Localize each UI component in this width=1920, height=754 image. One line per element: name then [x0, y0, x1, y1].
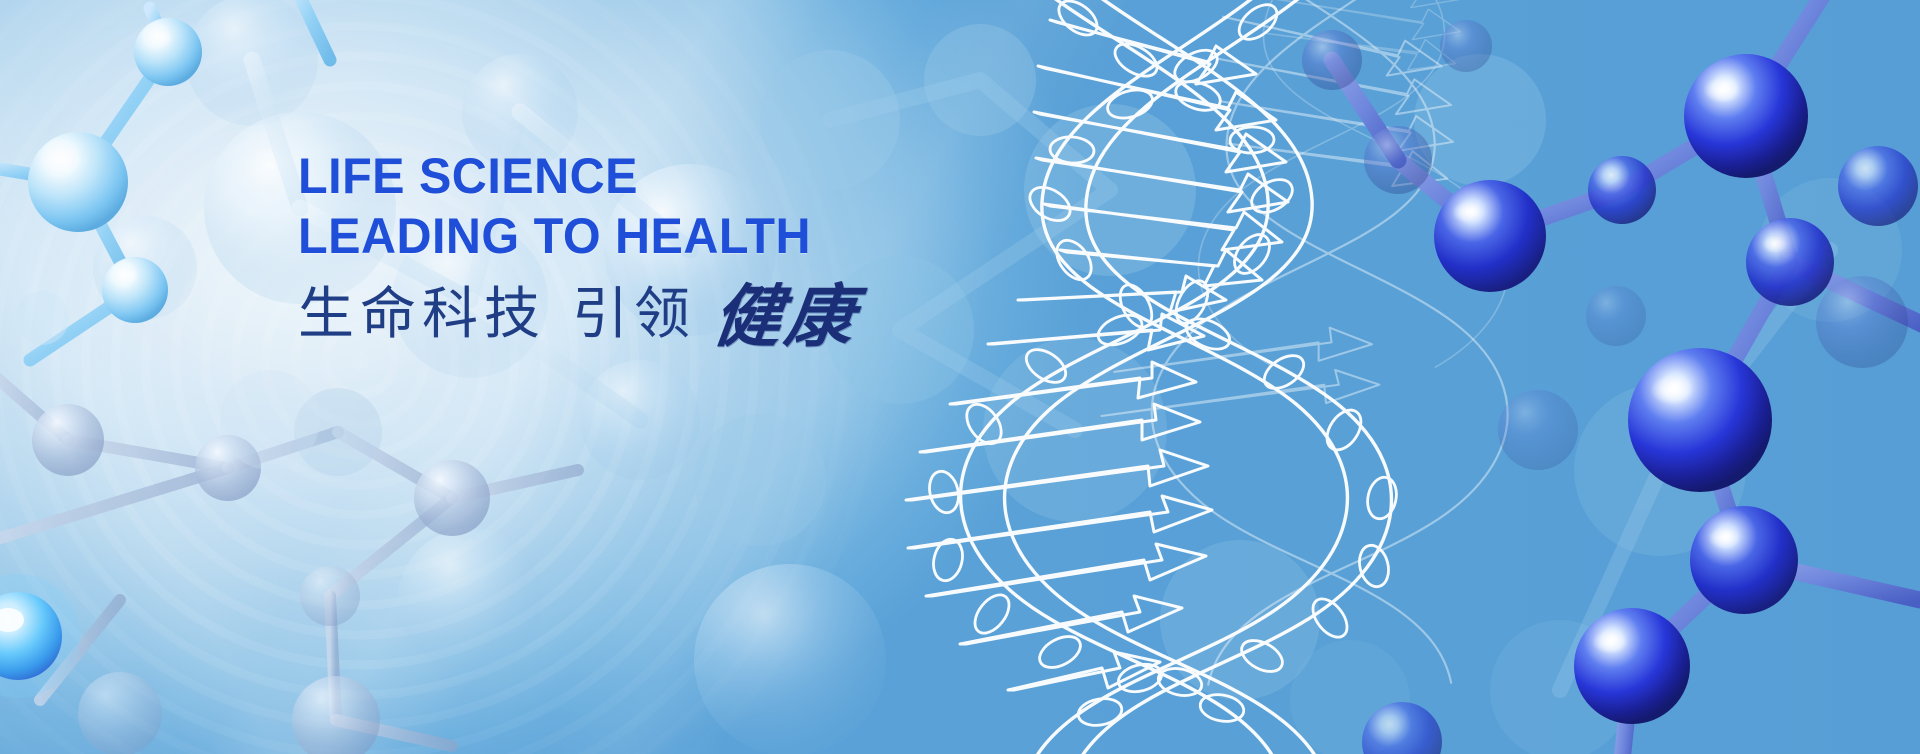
headline-chinese-row: 生命科技 引领 健康 [298, 284, 854, 346]
background-gradient [0, 0, 1920, 754]
headline-chinese-part-2: 引领 [572, 284, 696, 346]
headline-chinese-part-3-brush: 健康 [710, 286, 862, 348]
headline-english-line-1: LIFE SCIENCE [298, 146, 837, 206]
headline-block: LIFE SCIENCE LEADING TO HEALTH 生命科技 引领 健… [298, 146, 854, 346]
headline-chinese-part-1: 生命科技 [298, 284, 546, 346]
headline-english-line-2: LEADING TO HEALTH [298, 206, 837, 266]
life-science-banner: LIFE SCIENCE LEADING TO HEALTH 生命科技 引领 健… [0, 0, 1920, 754]
